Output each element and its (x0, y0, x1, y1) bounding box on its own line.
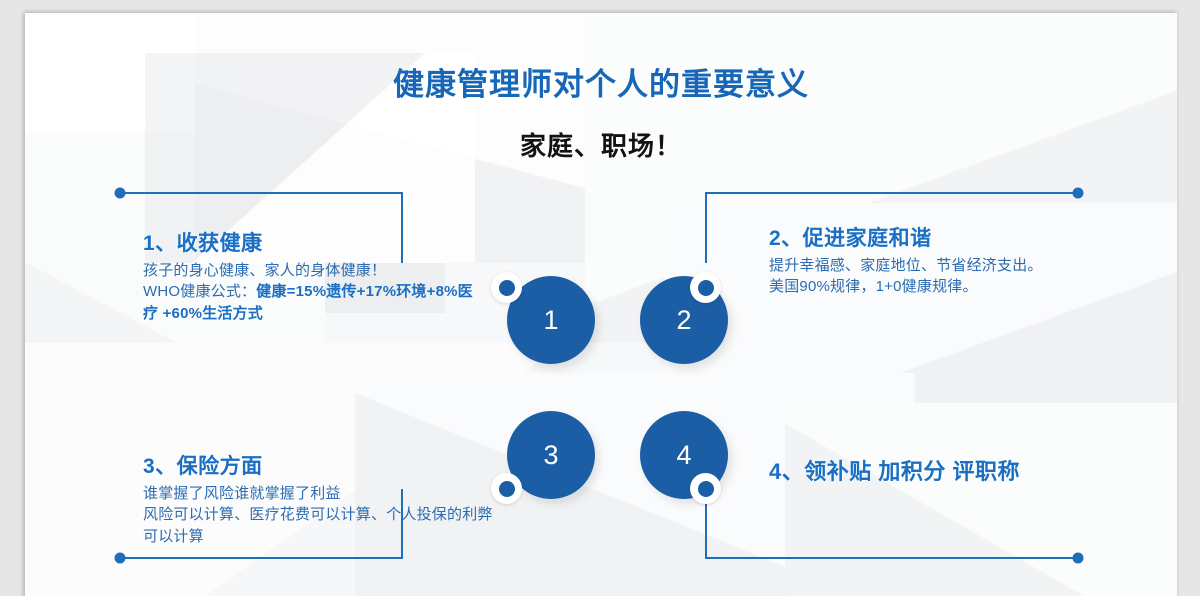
block-1-line-2: WHO健康公式：健康=15%遗传+17%环境+8%医疗 +60%生活方式 (143, 281, 488, 324)
block-2-heading: 2、促进家庭和谐 (769, 222, 1099, 252)
screenshot-viewport: 健康管理师对个人的重要意义 家庭、职场！ 1 (0, 0, 1200, 596)
node-badge-icon-2 (690, 272, 721, 303)
block-3-line-2: 风险可以计算、医疗花费可以计算、个人投保的利弊可以计算 (143, 504, 493, 547)
content-block-4: 4、领补贴 加积分 评职称 (769, 454, 1099, 486)
connector-path-4 (706, 489, 1078, 558)
connector-endpoint-dot (1073, 188, 1084, 199)
background-polygon (785, 403, 1177, 596)
content-block-2: 2、促进家庭和谐 提升幸福感、家庭地位、节省经济支出。 美国90%规律，1+0健… (769, 222, 1099, 298)
presentation-slide: 健康管理师对个人的重要意义 家庭、职场！ 1 (25, 13, 1177, 596)
block-3-heading: 3、保险方面 (143, 450, 493, 480)
node-badge-icon-4 (690, 473, 721, 504)
block-2-line-2: 美国90%规律，1+0健康规律。 (769, 276, 1099, 297)
slide-subtitle: 家庭、职场！ (25, 126, 1177, 163)
block-1-line-1: 孩子的身心健康、家人的身体健康！ (143, 260, 488, 281)
block-1-line-2-prefix: WHO健康公式： (143, 283, 256, 300)
connector-endpoint-dot (1073, 553, 1084, 564)
block-1-heading: 1、收获健康 (143, 227, 488, 257)
content-block-1: 1、收获健康 孩子的身心健康、家人的身体健康！ WHO健康公式：健康=15%遗传… (143, 227, 488, 324)
connector-endpoint-dot (115, 553, 126, 564)
block-4-heading: 4、领补贴 加积分 评职称 (769, 454, 1099, 486)
connector-endpoint-dot (115, 188, 126, 199)
block-3-line-1: 谁掌握了风险谁就掌握了利益 (143, 483, 493, 504)
block-2-line-1: 提升幸福感、家庭地位、节省经济支出。 (769, 255, 1099, 276)
node-badge-icon-3 (491, 473, 522, 504)
node-badge-icon-1 (491, 272, 522, 303)
slide-title: 健康管理师对个人的重要意义 (25, 59, 1177, 104)
content-block-3: 3、保险方面 谁掌握了风险谁就掌握了利益 风险可以计算、医疗花费可以计算、个人投… (143, 450, 493, 547)
